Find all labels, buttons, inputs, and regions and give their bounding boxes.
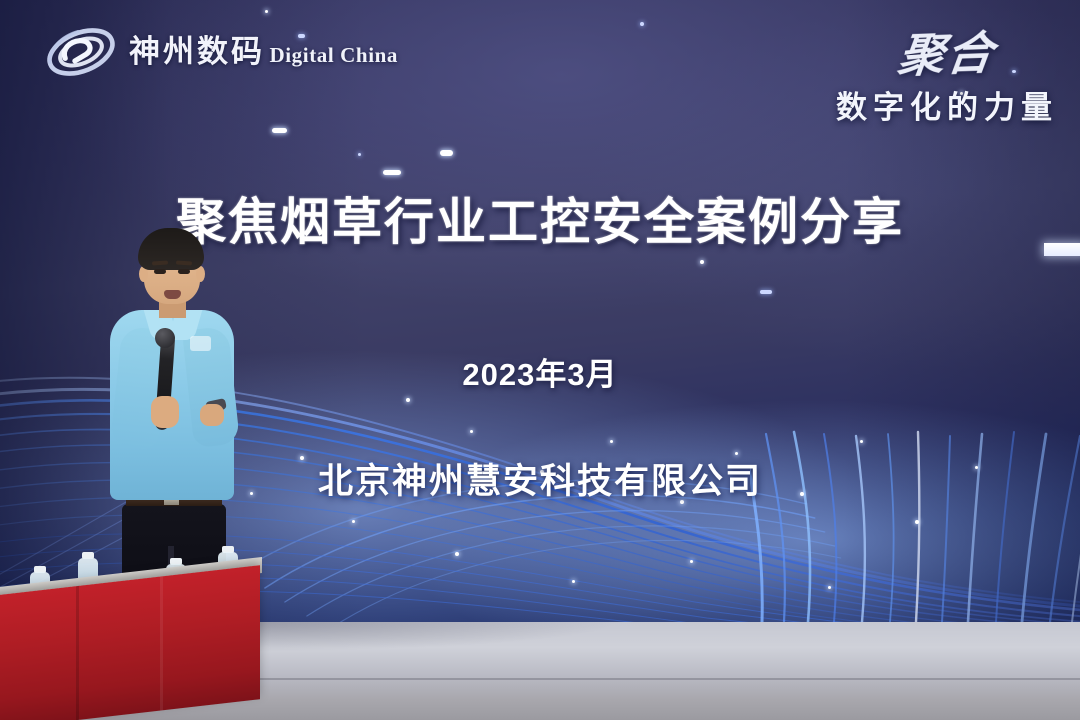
digital-china-swirl-icon	[44, 20, 118, 84]
digital-china-logo: 神州数码 Digital China	[44, 20, 398, 84]
logo-wordmark: 神州数码 Digital China	[129, 36, 398, 69]
presenter-eye-right	[178, 269, 190, 274]
presenter-hand-holding-clicker	[200, 404, 224, 426]
event-tagline: 数字化的力量	[836, 82, 1058, 127]
logo-name-en: Digital China	[269, 43, 398, 67]
logo-name-cn: 神州数码	[129, 34, 265, 69]
event-brush-mark: 聚合	[831, 14, 1062, 88]
presenter-chest-logo	[190, 336, 211, 351]
presenter-hand-holding-mic	[151, 396, 179, 428]
presenter-eye-left	[154, 269, 166, 274]
conference-photo-scene: 神州数码 Digital China 聚合 数字化的力量 聚焦烟草行业工控安全案…	[0, 0, 1080, 720]
table-skirt-fold	[76, 586, 79, 720]
presenter-mouth	[164, 290, 181, 299]
presenter-hair	[138, 228, 204, 270]
table-skirt-fold	[160, 576, 163, 710]
event-branding: 聚合 数字化的力量	[836, 18, 1058, 127]
